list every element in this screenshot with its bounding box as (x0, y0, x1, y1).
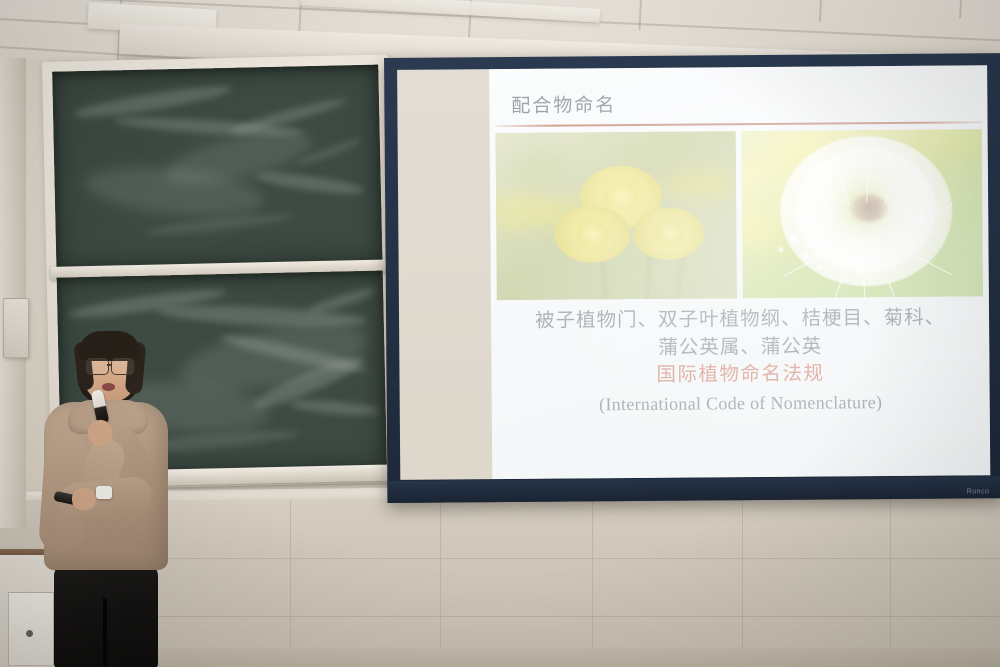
slide-body-line-4-latin: (International Code of Nomenclature) (492, 389, 990, 418)
presenter-bangs (79, 331, 140, 361)
eyeglasses-left-lens-icon (86, 358, 109, 375)
classroom-photo-scene: 配合物命名 (0, 0, 1000, 667)
slide-body-line-2: 蒲公英属、蒲公英 (491, 331, 989, 363)
slide-body-line-1: 被子植物门、双子叶植物纲、桔梗目、菊科、 (491, 303, 989, 335)
presenter-mouth (102, 383, 115, 391)
wall-switch-box[interactable] (3, 298, 29, 358)
slide-image-row (496, 129, 983, 300)
presentation-slide[interactable]: 配合物命名 (489, 65, 990, 479)
slide-title: 配合物命名 (511, 90, 616, 118)
screen-brand-logo: Runco (967, 488, 990, 495)
eyeglasses-bridge-icon (107, 364, 112, 366)
yellow-dandelion-flowers-photo (496, 131, 737, 300)
wristwatch-icon (96, 486, 112, 499)
presenter-hand-holding-clicker (72, 488, 96, 510)
projection-screen[interactable]: 配合物命名 (384, 53, 1000, 503)
chalkboard-upper-panel[interactable] (52, 65, 382, 269)
screen-surface[interactable]: 配合物命名 (397, 65, 990, 480)
slide-body-text: 被子植物门、双子叶植物纲、桔梗目、菊科、 蒲公英属、蒲公英 国际植物命名法规 (… (491, 303, 990, 419)
white-dandelion-seedhead-photo (742, 129, 983, 298)
presenter-leg-gap (103, 598, 107, 667)
presenter (30, 330, 180, 667)
eyeglasses-right-lens-icon (111, 358, 134, 375)
wall-left-column (0, 58, 26, 528)
slide-body-line-3-highlight: 国际植物命名法规 (491, 359, 989, 391)
slide-title-divider (496, 121, 982, 127)
